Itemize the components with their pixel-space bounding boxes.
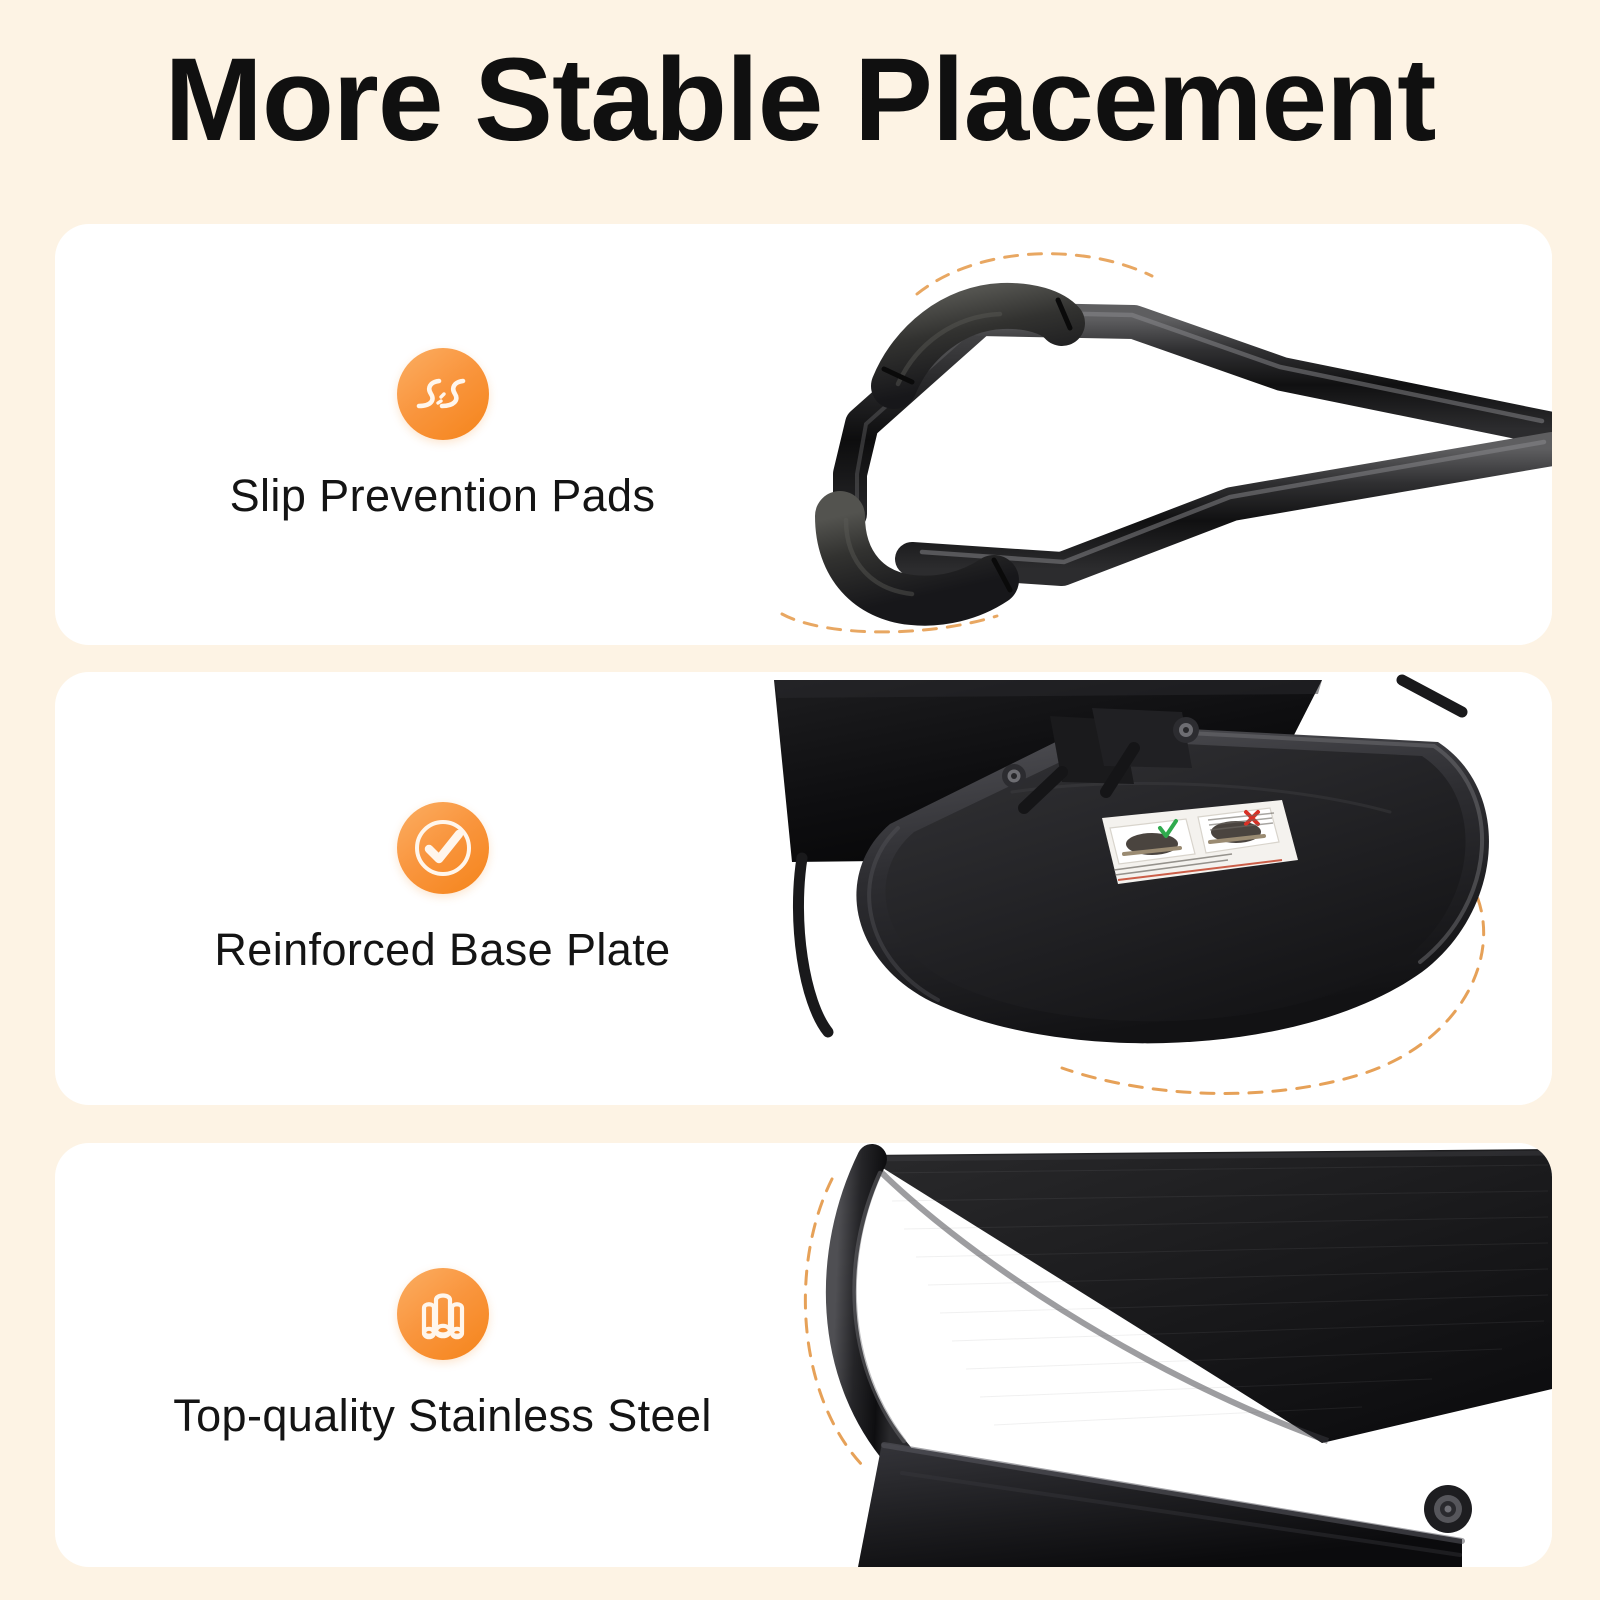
anti-slip-tread-icon [397, 348, 489, 440]
steel-tubes-bundle-icon [397, 1268, 489, 1360]
feature-label: Reinforced Base Plate [214, 924, 670, 976]
feature-text-column: Reinforced Base Plate [55, 672, 830, 1105]
product-photo-tube-frame-with-rubber-pads [762, 224, 1552, 645]
feature-text-column: Slip Prevention Pads [55, 224, 830, 645]
feature-card-slip-prevention-pads: Slip Prevention Pads [55, 224, 1552, 645]
product-photo-steel-tube-frame-with-fabric-seat [762, 1143, 1552, 1567]
feature-label: Slip Prevention Pads [230, 470, 656, 522]
feature-card-reinforced-base-plate: Reinforced Base Plate [55, 672, 1552, 1105]
feature-card-top-quality-stainless-steel: Top-quality Stainless Steel [55, 1143, 1552, 1567]
product-photo-semicircular-base-plate-with-warning-label [762, 672, 1552, 1105]
bolt-icon [1424, 1485, 1472, 1533]
feature-label: Top-quality Stainless Steel [173, 1390, 712, 1442]
check-circle-icon [397, 802, 489, 894]
feature-text-column: Top-quality Stainless Steel [55, 1143, 830, 1567]
page-title: More Stable Placement [0, 34, 1600, 166]
